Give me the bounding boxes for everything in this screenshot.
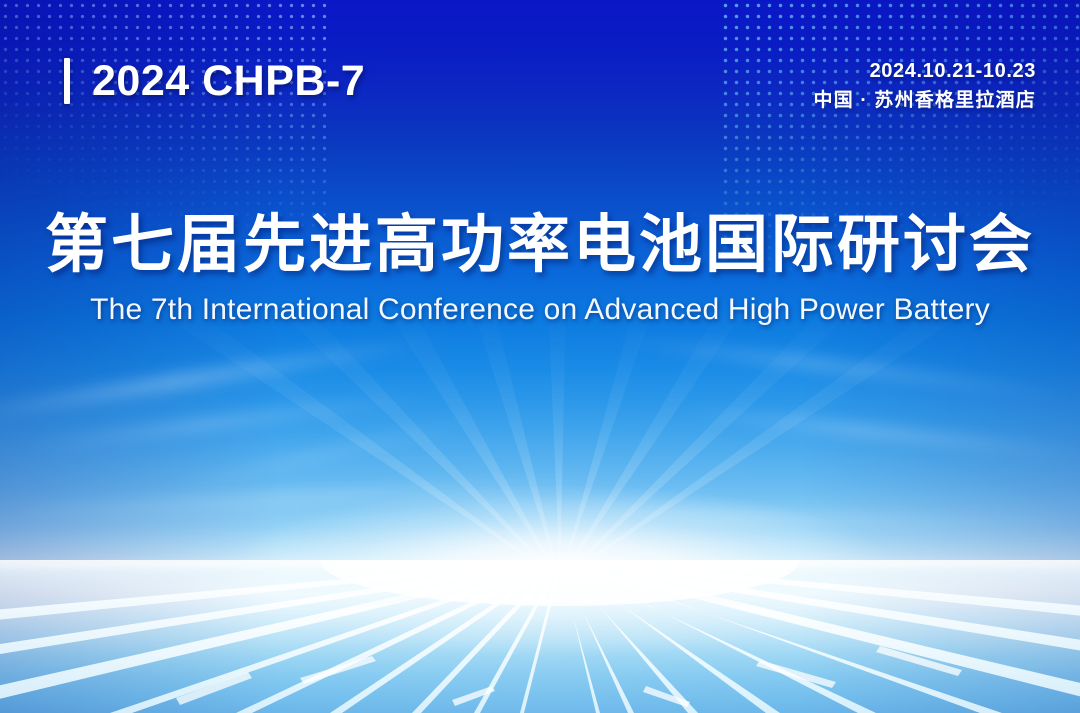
halftone-dots-left-icon [0,0,330,235]
event-venue: 中国 · 苏州香格里拉酒店 [814,88,1037,114]
brand-title: 2024 CHPB-7 [92,60,365,103]
brand-accent-bar-icon [64,58,70,104]
event-date: 2024.10.21-10.23 [814,58,1037,85]
page-title-cn: 第七届先进高功率电池国际研讨会 [0,212,1080,279]
page-subtitle-en: The 7th International Conference on Adva… [0,293,1080,328]
brand-lockup: 2024 CHPB-7 [64,58,365,104]
headline-block: 第七届先进高功率电池国际研讨会 The 7th International Co… [0,212,1080,327]
event-meta: 2024.10.21-10.23 中国 · 苏州香格里拉酒店 [814,58,1037,114]
conference-banner: 2024 CHPB-7 2024.10.21-10.23 中国 · 苏州香格里拉… [0,0,1080,713]
